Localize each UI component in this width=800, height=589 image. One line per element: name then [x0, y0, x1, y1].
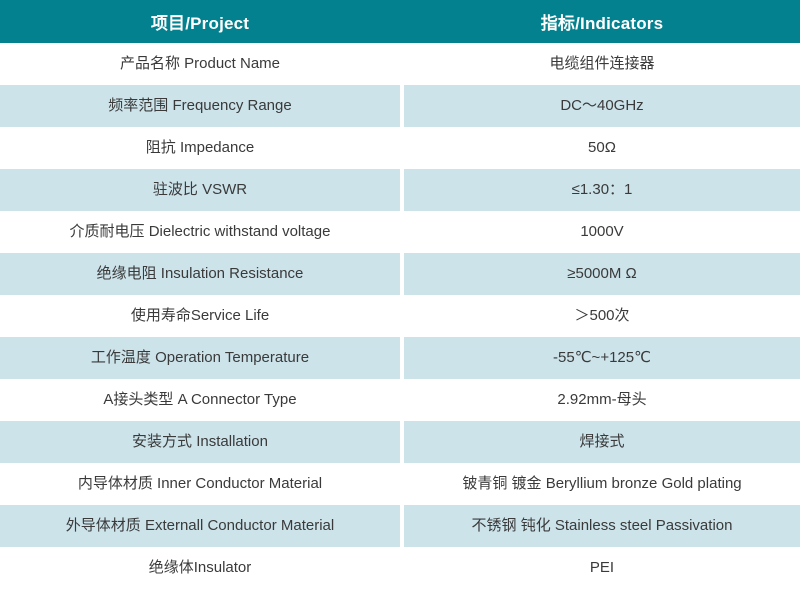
table-row: 频率范围 Frequency RangeDC～40GHz [0, 85, 800, 127]
table-row: 使用寿命Service Life＞500次 [0, 295, 800, 337]
cell-project: A接头类型 A Connector Type [0, 379, 400, 421]
table-row: 工作温度 Operation Temperature-55℃~+125℃ [0, 337, 800, 379]
cell-project: 内导体材质 Inner Conductor Material [0, 463, 400, 505]
cell-project: 绝缘体Insulator [0, 547, 400, 589]
cell-project: 驻波比 VSWR [0, 169, 400, 211]
table-header-row: 项目/Project 指标/Indicators [0, 0, 800, 43]
cell-project: 阻抗 Impedance [0, 127, 400, 169]
table-row: 外导体材质 Externall Conductor Material不锈钢 钝化… [0, 505, 800, 547]
table-row: 产品名称 Product Name电缆组件连接器 [0, 43, 800, 85]
cell-project: 使用寿命Service Life [0, 295, 400, 337]
cell-project: 频率范围 Frequency Range [0, 85, 400, 127]
cell-indicator: 1000V [404, 211, 800, 253]
cell-project: 绝缘电阻 Insulation Resistance [0, 253, 400, 295]
cell-indicator: 2.92mm-母头 [404, 379, 800, 421]
cell-project: 介质耐电压 Dielectric withstand voltage [0, 211, 400, 253]
cell-project: 产品名称 Product Name [0, 43, 400, 85]
cell-indicator: PEI [404, 547, 800, 589]
table-row: 绝缘电阻 Insulation Resistance≥5000M Ω [0, 253, 800, 295]
cell-indicator: DC～40GHz [404, 85, 800, 127]
column-header-indicators: 指标/Indicators [404, 0, 800, 43]
cell-indicator: ≤1.30：1 [404, 169, 800, 211]
table-row: 介质耐电压 Dielectric withstand voltage1000V [0, 211, 800, 253]
table-row: 内导体材质 Inner Conductor Material铍青铜 镀金 Ber… [0, 463, 800, 505]
cell-indicator: ＞500次 [404, 295, 800, 337]
table-row: 驻波比 VSWR≤1.30：1 [0, 169, 800, 211]
cell-indicator: -55℃~+125℃ [404, 337, 800, 379]
cell-indicator: 电缆组件连接器 [404, 43, 800, 85]
table-row: 安装方式 Installation焊接式 [0, 421, 800, 463]
column-header-project: 项目/Project [0, 0, 400, 43]
cell-indicator: 焊接式 [404, 421, 800, 463]
specification-table: 项目/Project 指标/Indicators 产品名称 Product Na… [0, 0, 800, 589]
table-body: 产品名称 Product Name电缆组件连接器频率范围 Frequency R… [0, 43, 800, 589]
cell-indicator: 铍青铜 镀金 Beryllium bronze Gold plating [404, 463, 800, 505]
cell-indicator: 不锈钢 钝化 Stainless steel Passivation [404, 505, 800, 547]
cell-indicator: ≥5000M Ω [404, 253, 800, 295]
table-row: 绝缘体InsulatorPEI [0, 547, 800, 589]
cell-project: 外导体材质 Externall Conductor Material [0, 505, 400, 547]
cell-project: 安装方式 Installation [0, 421, 400, 463]
table-row: A接头类型 A Connector Type2.92mm-母头 [0, 379, 800, 421]
cell-indicator: 50Ω [404, 127, 800, 169]
table-row: 阻抗 Impedance50Ω [0, 127, 800, 169]
cell-project: 工作温度 Operation Temperature [0, 337, 400, 379]
